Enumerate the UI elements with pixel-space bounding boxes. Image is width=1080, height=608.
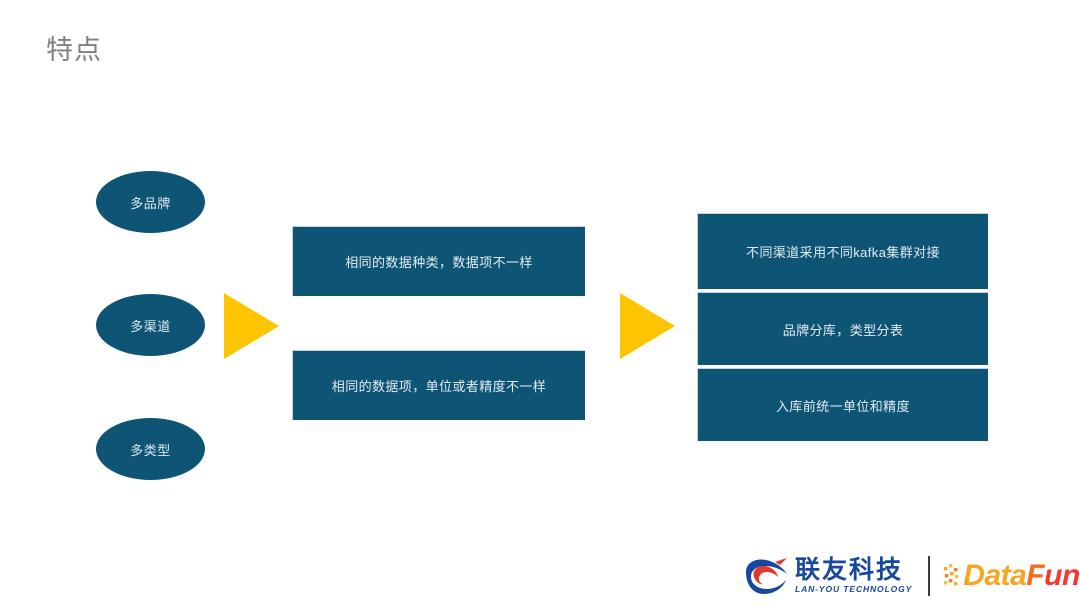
ellipse-multi-type: 多类型 xyxy=(96,418,205,480)
page-title: 特点 xyxy=(46,32,102,68)
box-label: 相同的数据项，单位或者精度不一样 xyxy=(332,376,546,395)
slide-canvas: 特点 多品牌 多渠道 多类型 相同的数据种类，数据项不一样 相同的数据项，单位或… xyxy=(0,0,1080,608)
box-kafka-cluster: 不同渠道采用不同kafka集群对接 xyxy=(697,213,988,289)
datafun-wordmark: DataFun. xyxy=(963,560,1080,592)
lanyou-logo: 联友科技 LAN-YOU TECHNOLOGY xyxy=(742,552,912,600)
ellipse-multi-brand: 多品牌 xyxy=(96,171,205,233)
lanyou-name-en: LAN-YOU TECHNOLOGY xyxy=(795,584,912,595)
datafun-letters-ata: ata xyxy=(984,559,1026,592)
footer-logos: 联友科技 LAN-YOU TECHNOLOGY DataFun. xyxy=(742,552,1080,600)
lanyou-logo-text: 联友科技 LAN-YOU TECHNOLOGY xyxy=(795,557,912,595)
box-same-category-diff-items: 相同的数据种类，数据项不一样 xyxy=(292,226,585,296)
datafun-letters-un: un. xyxy=(1044,559,1080,592)
ellipse-multi-channel: 多渠道 xyxy=(96,294,205,356)
arrow-right-icon xyxy=(224,293,279,359)
ellipse-label: 多类型 xyxy=(130,440,171,459)
box-label: 入库前统一单位和精度 xyxy=(776,396,910,415)
datafun-logo: DataFun. xyxy=(944,556,1080,596)
box-label: 相同的数据种类，数据项不一样 xyxy=(345,252,533,271)
box-label: 品牌分库，类型分表 xyxy=(783,320,904,339)
arrow-right-icon xyxy=(620,293,675,359)
ellipse-label: 多渠道 xyxy=(130,316,171,335)
lanyou-name-cn: 联友科技 xyxy=(795,557,912,584)
datafun-letter-d: D xyxy=(963,559,984,592)
box-label: 不同渠道采用不同kafka集群对接 xyxy=(746,242,940,261)
box-brand-sharding: 品牌分库，类型分表 xyxy=(697,292,988,365)
ellipse-label: 多品牌 xyxy=(130,193,171,212)
logo-divider xyxy=(928,556,930,596)
lanyou-swoosh-icon xyxy=(742,556,790,596)
datafun-letter-f: F xyxy=(1026,559,1044,592)
box-same-items-diff-unit: 相同的数据项，单位或者精度不一样 xyxy=(292,350,585,420)
box-unify-unit-precision: 入库前统一单位和精度 xyxy=(697,368,988,441)
datafun-dots-icon xyxy=(944,563,962,589)
